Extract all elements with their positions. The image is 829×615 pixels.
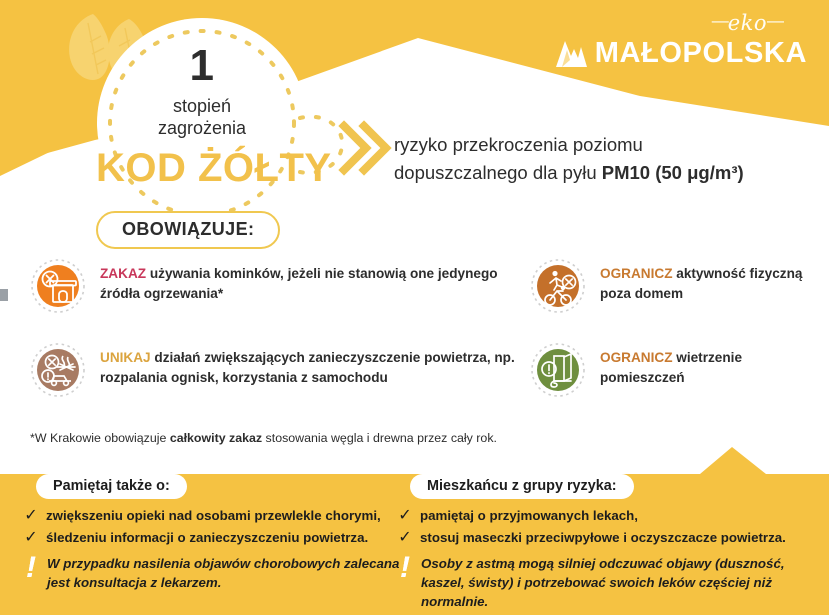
- checkmark-icon: ✓: [398, 508, 412, 524]
- advice-warning-text: Osoby z astmą mogą silniej odczuwać obja…: [421, 555, 818, 612]
- alert-level-label-line1: stopień: [97, 96, 307, 118]
- list-item: ✓ śledzeniu informacji o zanieczyszczeni…: [24, 529, 402, 548]
- air-quality-alert-poster: —eko— MAŁOPOLSKA 1 stopień zagrożenia KO…: [0, 0, 829, 615]
- rule-keyword: UNIKAJ: [100, 350, 151, 365]
- list-item: ✓ stosuj maseczki przeciwpyłowe i oczysz…: [398, 529, 818, 548]
- rule-body: używania kominków, jeżeli nie stanowią o…: [100, 266, 498, 301]
- checkmark-icon: ✓: [398, 530, 412, 546]
- advice-pill-general: Pamiętaj także o:: [36, 474, 187, 499]
- rule-text: OGRANICZ aktywność fizyczną poza domem: [600, 258, 829, 304]
- list-item: ✓ pamiętaj o przyjmowanych lekach,: [398, 507, 818, 526]
- rule-item: UNIKAJ działań zwiększających zanieczysz…: [30, 342, 530, 398]
- rule-item: ZAKAZ używania kominków, jeżeli nie stan…: [30, 258, 500, 314]
- headline: ryzyko przekroczenia poziomu dopuszczaln…: [394, 131, 824, 187]
- checkmark-icon: ✓: [24, 508, 38, 524]
- obligations-badge: OBOWIĄZUJE:: [96, 211, 280, 249]
- footnote-prefix: *W Krakowie obowiązuje: [30, 431, 170, 445]
- runner-cyclist-limit-icon: [530, 258, 586, 314]
- alert-code-name: KOD ŻÓŁTY: [96, 148, 332, 188]
- bottom-advice-panel: Pamiętaj także o: ✓ zwiększeniu opieki n…: [0, 474, 829, 615]
- advice-text: pamiętaj o przyjmowanych lekach,: [420, 507, 638, 526]
- checkmark-icon: ✓: [24, 530, 38, 546]
- open-window-limit-icon: [530, 342, 586, 398]
- advice-text: śledzeniu informacji o zanieczyszczeniu …: [46, 529, 368, 548]
- rule-text: OGRANICZ wietrzenie pomieszczeń: [600, 342, 829, 388]
- advice-column-risk-group: Mieszkańcu z grupy ryzyka: ✓ pamiętaj o …: [398, 474, 818, 612]
- rule-item: OGRANICZ wietrzenie pomieszczeń: [530, 342, 829, 398]
- alert-level-circle: 1 stopień zagrożenia: [97, 18, 307, 228]
- advice-text: zwiększeniu opieki nad osobami przewlekl…: [46, 507, 381, 526]
- headline-line-1: ryzyko przekroczenia poziomu: [394, 131, 824, 159]
- headline-line-2: dopuszczalnego dla pyłu PM10 (50 μg/m³): [394, 159, 824, 187]
- exclamation-icon: !: [398, 554, 412, 582]
- rule-keyword: OGRANICZ: [600, 350, 673, 365]
- header: —eko— MAŁOPOLSKA 1 stopień zagrożenia KO…: [0, 0, 829, 200]
- logo-wordmark: MAŁOPOLSKA: [595, 39, 807, 68]
- logo-eko-text: eko: [728, 11, 767, 35]
- logo-eko-script: —eko—: [712, 12, 783, 34]
- alert-level-label-line2: zagrożenia: [97, 118, 307, 140]
- alert-level-number: 1: [97, 44, 307, 88]
- exclamation-icon: !: [24, 554, 38, 582]
- rule-item: OGRANICZ aktywność fizyczną poza domem: [530, 258, 829, 314]
- eko-malopolska-logo[interactable]: —eko— MAŁOPOLSKA: [575, 12, 807, 74]
- list-item: ✓ zwiększeniu opieki nad osobami przewle…: [24, 507, 402, 526]
- logo-dash-right: —: [767, 11, 783, 30]
- headline-pm10-value: PM10 (50 μg/m³): [602, 162, 744, 183]
- fireplace-prohibited-icon: [30, 258, 86, 314]
- bonfire-car-avoid-icon: [30, 342, 86, 398]
- advice-check-list: ✓ pamiętaj o przyjmowanych lekach, ✓ sto…: [398, 507, 818, 547]
- advice-check-list: ✓ zwiększeniu opieki nad osobami przewle…: [24, 507, 402, 547]
- advice-pill-risk-group: Mieszkańcu z grupy ryzyka:: [410, 474, 634, 499]
- double-chevron-right-icon: [338, 120, 394, 176]
- mountain-icon: [554, 38, 588, 68]
- headline-line-2-prefix: dopuszczalnego dla pyłu: [394, 162, 602, 183]
- obligations-list: ZAKAZ używania kominków, jeżeli nie stan…: [0, 252, 829, 412]
- advice-column-general: Pamiętaj także o: ✓ zwiększeniu opieki n…: [24, 474, 402, 593]
- advice-warning-general: ! W przypadku nasilenia objawów chorobow…: [24, 555, 402, 593]
- rule-text: UNIKAJ działań zwiększających zanieczysz…: [100, 342, 530, 388]
- rule-text: ZAKAZ używania kominków, jeżeli nie stan…: [100, 258, 500, 304]
- footnote-suffix: stosowania węgla i drewna przez cały rok…: [262, 431, 497, 445]
- advice-warning-risk-group: ! Osoby z astmą mogą silniej odczuwać ob…: [398, 555, 818, 612]
- rule-keyword: OGRANICZ: [600, 266, 673, 281]
- advice-text: stosuj maseczki przeciwpyłowe i oczyszcz…: [420, 529, 786, 548]
- footnote: *W Krakowie obowiązuje całkowity zakaz s…: [30, 430, 497, 447]
- advice-warning-text: W przypadku nasilenia objawów chorobowyc…: [47, 555, 402, 593]
- footnote-bold: całkowity zakaz: [170, 431, 262, 445]
- logo-dash-left: —: [712, 11, 728, 30]
- rule-body: działań zwiększających zanieczyszczenie …: [100, 350, 515, 385]
- rule-keyword: ZAKAZ: [100, 266, 146, 281]
